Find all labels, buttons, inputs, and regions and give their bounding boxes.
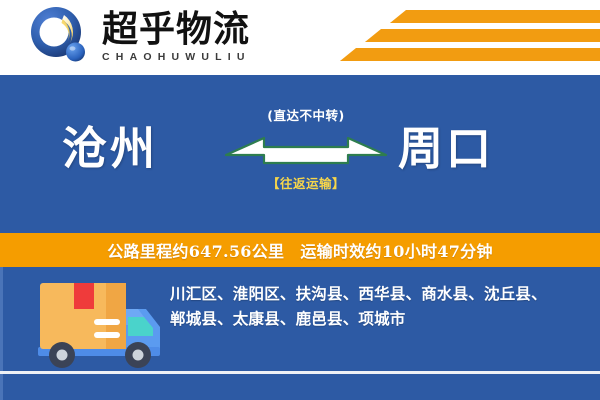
brand-logo: 超乎物流 CHAOHUWULIU: [28, 6, 251, 68]
left-accent-bar: [0, 267, 3, 400]
coverage-area-list: 川汇区、淮阳区、扶沟县、西华县、商水县、沈丘县、 郸城县、太康县、鹿邑县、项城市: [170, 281, 582, 331]
origin-city: 沧州: [62, 121, 158, 177]
duration-text: 运输时效约10小时47分钟: [300, 238, 492, 262]
brand-name-cn: 超乎物流: [102, 10, 251, 50]
stripe-2: [365, 29, 600, 42]
coverage-line-2: 郸城县、太康县、鹿邑县、项城市: [170, 306, 582, 331]
destination-city: 周口: [398, 121, 494, 177]
coverage-section: 川汇区、淮阳区、扶沟县、西华县、商水县、沈丘县、 郸城县、太康县、鹿邑县、项城市: [0, 267, 600, 400]
circle-crescent-logo-icon: [28, 6, 92, 68]
logistics-route-banner: 超乎物流 CHAOHUWULIU 沧州 (直达不中转) 【往返运输】 周口 公路…: [0, 0, 600, 400]
direct-service-note: (直达不中转): [226, 105, 386, 124]
stripe-3: [340, 48, 600, 61]
brand-text: 超乎物流 CHAOHUWULIU: [102, 10, 251, 64]
route-info-bar: 公路里程约647.56公里 运输时效约10小时47分钟: [0, 233, 600, 267]
stripe-1: [390, 10, 600, 23]
route-arrow-group: (直达不中转) 【往返运输】: [226, 105, 386, 205]
bidirectional-arrow-icon: [224, 129, 388, 174]
distance-text: 公路里程约647.56公里: [107, 238, 284, 262]
coverage-line-1: 川汇区、淮阳区、扶沟县、西华县、商水县、沈丘县、: [170, 281, 582, 306]
route-section: 沧州 (直达不中转) 【往返运输】 周口: [0, 75, 600, 233]
banner-header: 超乎物流 CHAOHUWULIU: [0, 0, 600, 75]
speed-stripes-icon: [330, 8, 600, 68]
roundtrip-note: 【往返运输】: [226, 173, 386, 192]
delivery-truck-icon: [28, 275, 168, 375]
brand-name-en: CHAOHUWULIU: [102, 51, 251, 64]
ground-line: [0, 371, 600, 374]
